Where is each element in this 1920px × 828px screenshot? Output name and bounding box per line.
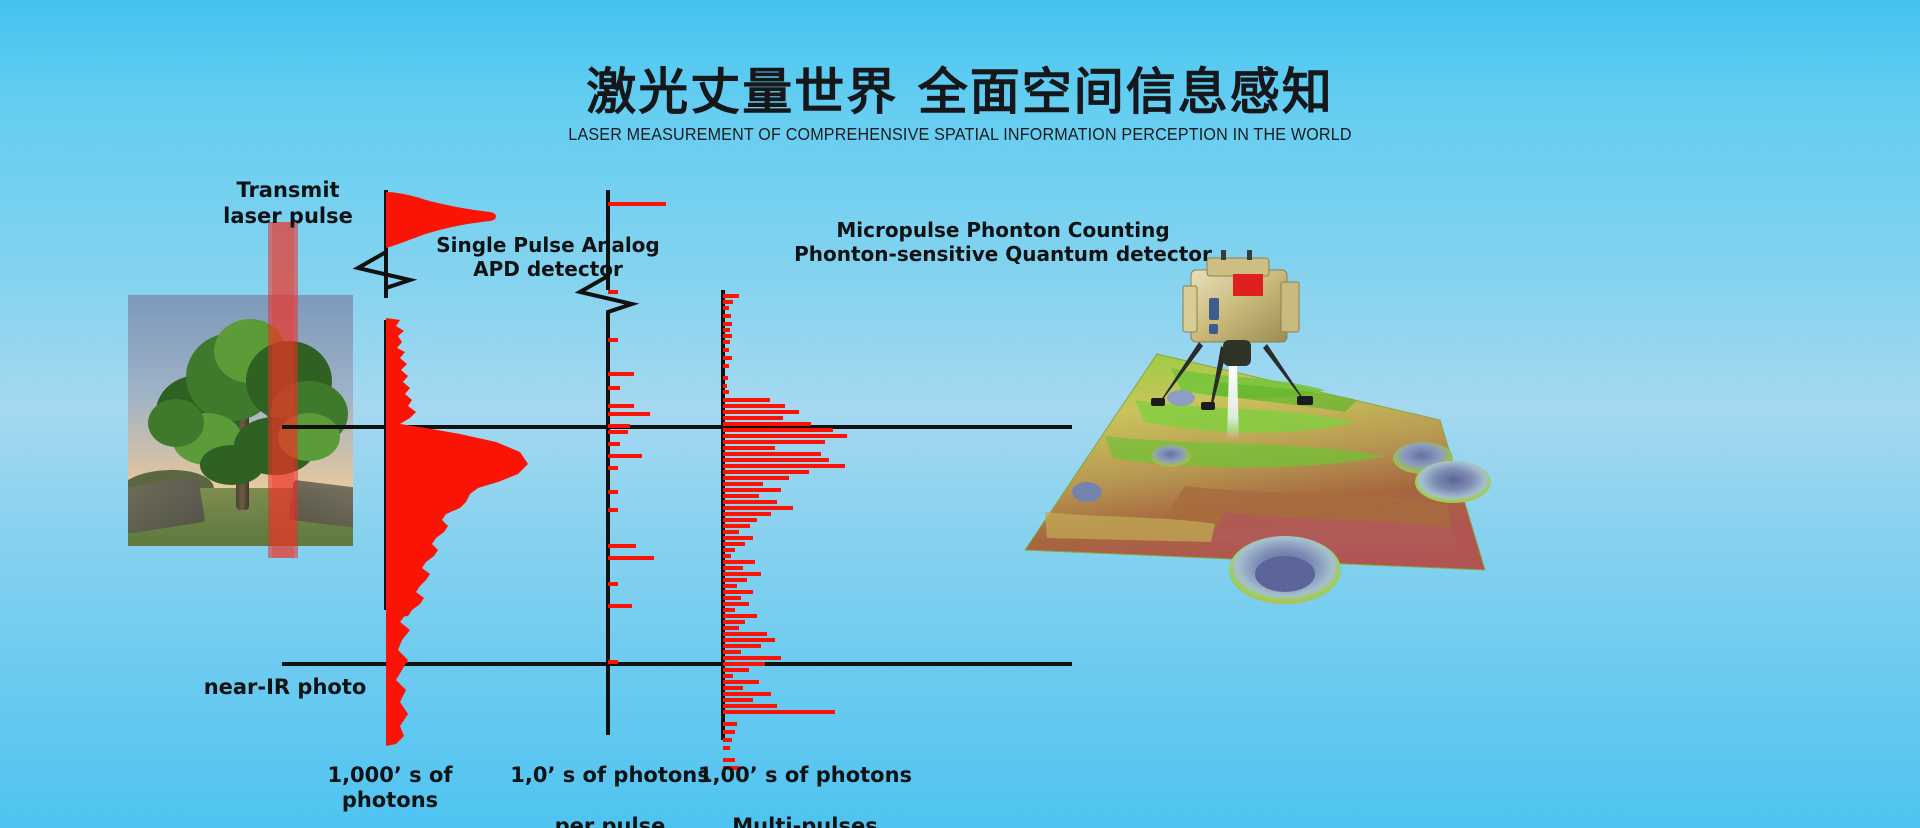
tree-canopy xyxy=(148,399,204,447)
photon-bar xyxy=(723,390,729,394)
photon-bar xyxy=(723,446,775,450)
photon-bar xyxy=(723,294,739,298)
photon-bar xyxy=(723,524,750,528)
photon-bar xyxy=(608,412,650,416)
photon-bar xyxy=(723,554,731,558)
near-ir-photo-caption: near-IR photo xyxy=(160,675,410,701)
photon-bar xyxy=(723,340,730,344)
photon-bar xyxy=(723,384,727,388)
photon-bar xyxy=(723,560,755,564)
axis-caption-3: 1,00’ s of photons Multi-pulses xyxy=(690,737,920,828)
lunar-landing-scene xyxy=(985,250,1545,670)
micropulse-photon-counting-histogram xyxy=(723,290,943,750)
photon-bar xyxy=(723,416,783,420)
axis-caption-1-line1: 1,000’ s of photons xyxy=(327,763,452,813)
photon-bar xyxy=(723,482,763,486)
photon-bar xyxy=(608,442,620,446)
photon-bar xyxy=(723,596,741,600)
china-flag xyxy=(1233,274,1263,296)
lander-foot xyxy=(1297,396,1313,405)
photon-bar xyxy=(723,730,735,734)
photon-bar xyxy=(723,548,735,552)
photon-bar xyxy=(723,476,789,480)
photon-bar xyxy=(608,424,630,428)
photon-bar xyxy=(723,680,759,684)
photon-bar xyxy=(608,508,618,512)
photon-bar xyxy=(608,544,636,548)
lander-instrument xyxy=(1209,324,1218,334)
photon-bar xyxy=(608,430,628,434)
photon-bar xyxy=(608,660,618,664)
photon-bar xyxy=(723,704,777,708)
photon-bar xyxy=(723,590,753,594)
photon-bar xyxy=(608,582,618,586)
photon-bar xyxy=(723,306,729,310)
lander-panel xyxy=(1183,286,1197,332)
lander-foot xyxy=(1201,402,1215,410)
lander-panel xyxy=(1281,282,1299,332)
photon-bar xyxy=(723,578,747,582)
photon-bar xyxy=(608,466,618,470)
photon-bar xyxy=(723,692,771,696)
photon-bar xyxy=(608,604,632,608)
photon-bar xyxy=(723,300,733,304)
photon-bar xyxy=(723,662,765,666)
crater xyxy=(1167,390,1195,406)
single-pulse-analog-waveform-body xyxy=(386,318,566,618)
photon-bar xyxy=(723,530,739,534)
photon-bar xyxy=(723,322,732,326)
photon-bar xyxy=(723,422,811,426)
photon-bar xyxy=(723,656,781,660)
photon-bar xyxy=(723,464,845,468)
photon-bar xyxy=(723,626,739,630)
transmit-laser-beam-core xyxy=(272,222,294,558)
photon-bar xyxy=(723,644,761,648)
photon-bar xyxy=(723,674,733,678)
photon-bar xyxy=(723,440,825,444)
photon-bar xyxy=(608,202,666,206)
photon-bar xyxy=(723,638,775,642)
lander-antenna xyxy=(1247,250,1252,260)
lander-instrument xyxy=(1209,298,1219,320)
single-pulse-analog-waveform-ground-tail xyxy=(386,610,486,746)
photon-bar xyxy=(723,722,737,726)
photon-bar xyxy=(723,608,735,612)
photon-bar xyxy=(723,686,743,690)
photon-bar xyxy=(723,518,757,522)
engine-plume xyxy=(1227,366,1239,440)
photon-bar xyxy=(723,536,753,540)
photon-bar xyxy=(723,668,749,672)
lander-nozzle xyxy=(1223,340,1251,366)
page-subtitle: LASER MEASUREMENT OF COMPREHENSIVE SPATI… xyxy=(77,124,1843,145)
photon-bar xyxy=(723,404,785,408)
lander-foot xyxy=(1151,398,1165,406)
photon-bar xyxy=(608,556,654,560)
photon-bar xyxy=(723,410,799,414)
photon-bar xyxy=(608,454,642,458)
near-ir-tree-photo xyxy=(128,295,353,546)
colorized-3d-lidar-terrain xyxy=(1025,354,1491,604)
crater-large-floor xyxy=(1255,556,1315,592)
photon-bar xyxy=(608,290,618,294)
photon-bar xyxy=(723,506,793,510)
axis-caption-2-line1: 1,0’ s of photons xyxy=(510,763,710,787)
photon-bar xyxy=(723,602,749,606)
axis-caption-2-line2: per pulse xyxy=(555,814,666,828)
lander-upper-deck xyxy=(1207,258,1269,276)
photon-bar xyxy=(723,710,835,714)
axis-caption-2: 1,0’ s of photons per pulse xyxy=(500,737,720,828)
photon-bar xyxy=(723,434,847,438)
crater xyxy=(1151,445,1191,467)
photon-bar xyxy=(723,572,761,576)
photon-bar xyxy=(723,334,732,338)
tree-canopy xyxy=(200,445,264,485)
photon-bar xyxy=(608,386,620,390)
photon-bar xyxy=(723,500,777,504)
photon-bar xyxy=(723,314,731,318)
photon-bar xyxy=(608,404,634,408)
axis-caption-3-line2: Multi-pulses xyxy=(732,814,877,828)
photon-bar xyxy=(723,470,809,474)
transmit-laser-pulse-label: Transmit laser pulse xyxy=(188,178,388,229)
photon-bar xyxy=(723,398,770,402)
photon-bar xyxy=(723,566,743,570)
photon-bar xyxy=(723,356,732,360)
photo-stone-wall-right xyxy=(289,480,353,528)
photon-bar xyxy=(723,348,729,352)
photon-bar xyxy=(723,614,757,618)
photon-bar xyxy=(723,328,730,332)
poster-canvas: 激光丈量世界 全面空间信息感知 LASER MEASUREMENT OF COM… xyxy=(0,0,1920,828)
photon-bar xyxy=(723,458,829,462)
crater xyxy=(1072,482,1102,502)
photon-bar xyxy=(723,584,737,588)
photon-bar xyxy=(608,338,618,342)
photon-bar xyxy=(723,452,821,456)
photon-bar xyxy=(723,632,767,636)
photon-bar xyxy=(723,428,833,432)
photon-bar xyxy=(723,488,781,492)
photon-bar xyxy=(723,512,771,516)
photon-bar xyxy=(723,376,728,380)
photon-bar xyxy=(723,364,729,368)
page-title: 激光丈量世界 全面空间信息感知 xyxy=(0,52,1920,124)
photon-bar xyxy=(608,490,618,494)
axis-caption-1: 1,000’ s of photons per pulse xyxy=(280,737,500,828)
axis-caption-3-line1: 1,00’ s of photons xyxy=(698,763,912,787)
photon-bar xyxy=(723,542,745,546)
lander-antenna xyxy=(1221,250,1226,260)
photon-bar xyxy=(723,620,745,624)
crater xyxy=(1415,461,1491,503)
photon-bar xyxy=(723,650,741,654)
photon-bar xyxy=(723,698,753,702)
photon-bar xyxy=(608,372,634,376)
photon-bar xyxy=(723,494,759,498)
